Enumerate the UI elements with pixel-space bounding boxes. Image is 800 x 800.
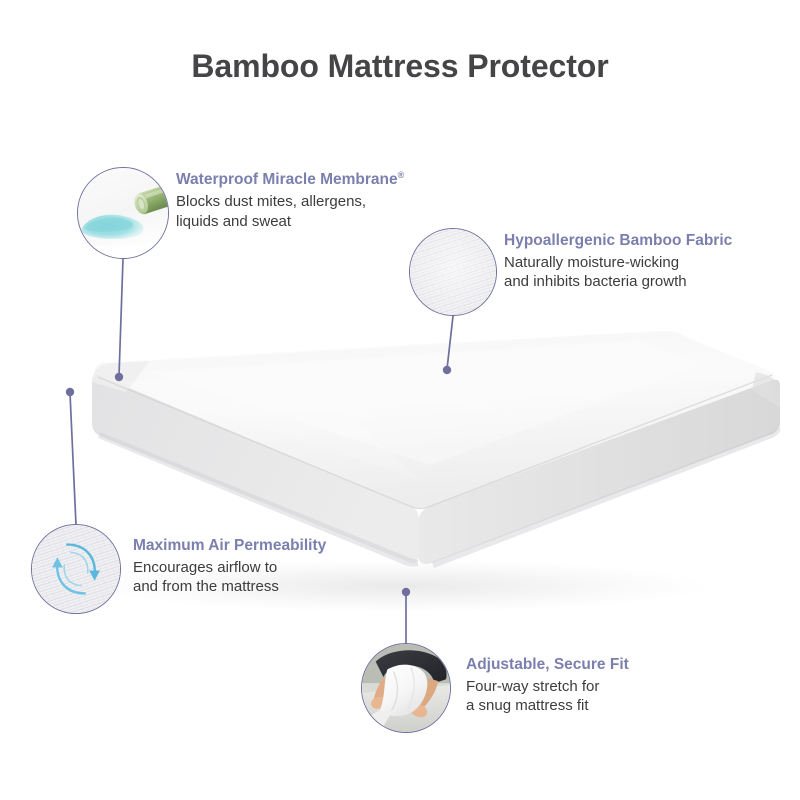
connector-dot-bamboo [443,366,451,374]
connector-air [70,393,76,525]
airflow-arrows-icon [31,524,121,614]
callout-bamboo-heading: Hypoallergenic Bamboo Fabric [504,231,732,251]
callout-membrane-heading: Waterproof Miracle Membrane® [176,170,404,190]
callout-bamboo-body: Naturally moisture-wicking and inhibits … [504,253,732,293]
registered-trademark-icon: ® [398,170,405,180]
connector-dot-membrane [115,373,123,381]
callout-air-heading: Maximum Air Permeability [133,536,326,556]
connector-dot-air [66,388,74,396]
liquid-spill-icon [77,167,169,259]
connector-bamboo [447,316,453,369]
callout-membrane: Waterproof Miracle Membrane® Blocks dust… [176,170,404,232]
infographic-canvas: Bamboo Mattress Protector [0,0,800,800]
woven-fabric-icon [409,228,497,316]
callout-air: Maximum Air Permeability Encourages airf… [133,536,326,597]
callout-bamboo: Hypoallergenic Bamboo Fabric Naturally m… [504,231,732,292]
callout-fit-heading: Adjustable, Secure Fit [466,655,629,675]
callout-fit-body: Four-way stretch for a snug mattress fit [466,677,629,717]
connector-membrane [119,259,123,376]
callout-air-body: Encourages airflow to and from the mattr… [133,558,326,598]
person-fitting-protector-icon [361,643,451,733]
callout-membrane-body: Blocks dust mites, allergens, liquids an… [176,192,404,232]
callout-fit: Adjustable, Secure Fit Four-way stretch … [466,655,629,716]
connector-dot-fit [402,588,410,596]
